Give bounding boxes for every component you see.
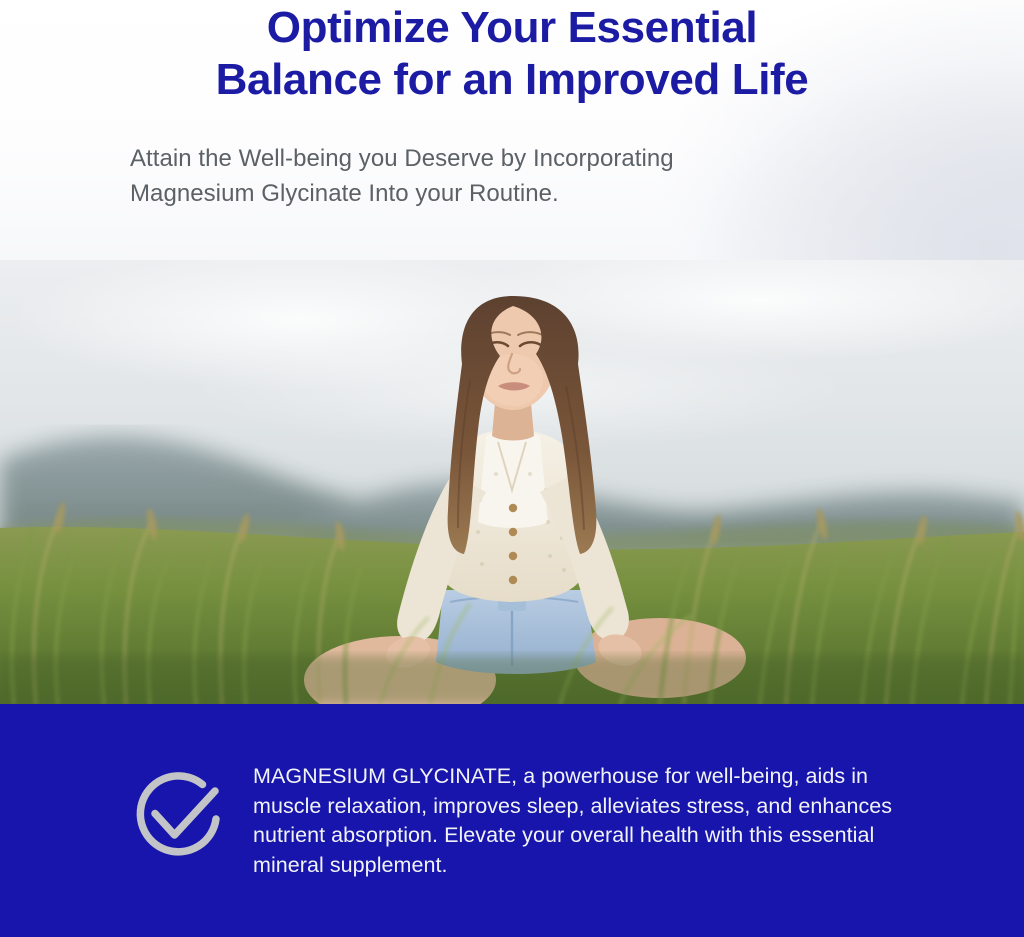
headline-line-1: Optimize Your Essential [267,3,757,52]
page-subtitle: Attain the Well-being you Deserve by Inc… [130,142,920,212]
lifestyle-photo [0,260,1024,704]
headline-line-2: Balance for an Improved Life [0,54,1024,106]
product-info-graphic: Optimize Your Essential Balance for an I… [0,0,1024,937]
subtitle-line-1: Attain the Well-being you Deserve by Inc… [130,145,674,172]
check-circle-icon [122,762,232,872]
subtitle-line-2: Magnesium Glycinate Into your Routine. [130,177,920,212]
benefit-description: MAGNESIUM GLYCINATE, a powerhouse for we… [253,762,913,881]
header-section: Optimize Your Essential Balance for an I… [0,0,1024,260]
page-title: Optimize Your Essential Balance for an I… [0,2,1024,106]
